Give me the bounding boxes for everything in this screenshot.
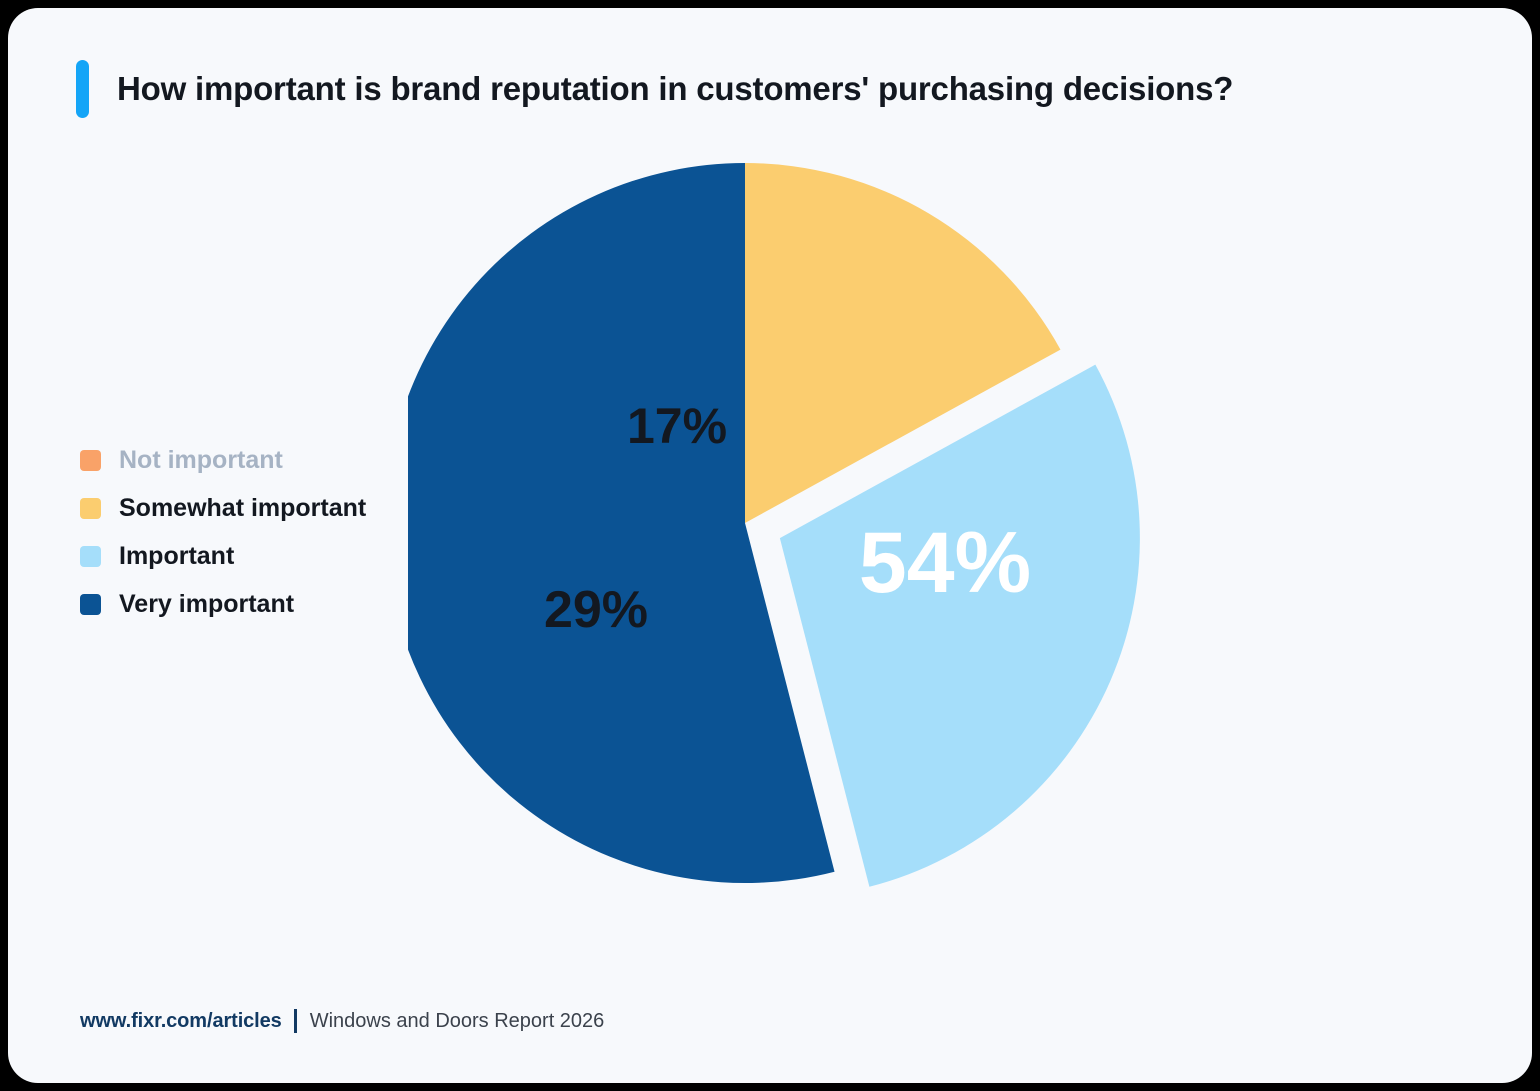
footer-site-link[interactable]: www.fixr.com/articles <box>80 1010 282 1033</box>
legend-item-not-important[interactable]: Not important <box>80 436 440 484</box>
legend-item-label: Not important <box>119 446 283 475</box>
legend-swatch-icon <box>80 450 101 471</box>
chart-legend: Not important Somewhat important Importa… <box>80 436 440 628</box>
footer: www.fixr.com/articles Windows and Doors … <box>80 1007 604 1035</box>
legend-item-important[interactable]: Important <box>80 532 440 580</box>
slice-value-label-very-important: 54% <box>859 515 1031 611</box>
chart-card: How important is brand reputation in cus… <box>8 8 1532 1083</box>
slice-value-label-important: 29% <box>544 581 648 639</box>
slice-value-label-somewhat-important: 17% <box>627 398 727 454</box>
footer-divider <box>294 1009 297 1033</box>
legend-item-label: Important <box>119 542 234 571</box>
legend-item-very-important[interactable]: Very important <box>80 580 440 628</box>
legend-swatch-icon <box>80 546 101 567</box>
chart-header: How important is brand reputation in cus… <box>76 60 1233 118</box>
accent-bar <box>76 60 89 118</box>
legend-item-label: Very important <box>119 590 294 619</box>
footer-report-label: Windows and Doors Report 2026 <box>310 1010 605 1033</box>
legend-item-label: Somewhat important <box>119 494 366 523</box>
legend-swatch-icon <box>80 594 101 615</box>
legend-item-somewhat-important[interactable]: Somewhat important <box>80 484 440 532</box>
pie-chart: 54% 29% 17% <box>408 148 1168 938</box>
page-title: How important is brand reputation in cus… <box>117 70 1233 108</box>
pie-chart-svg: 54% 29% 17% <box>408 148 1168 938</box>
legend-swatch-icon <box>80 498 101 519</box>
